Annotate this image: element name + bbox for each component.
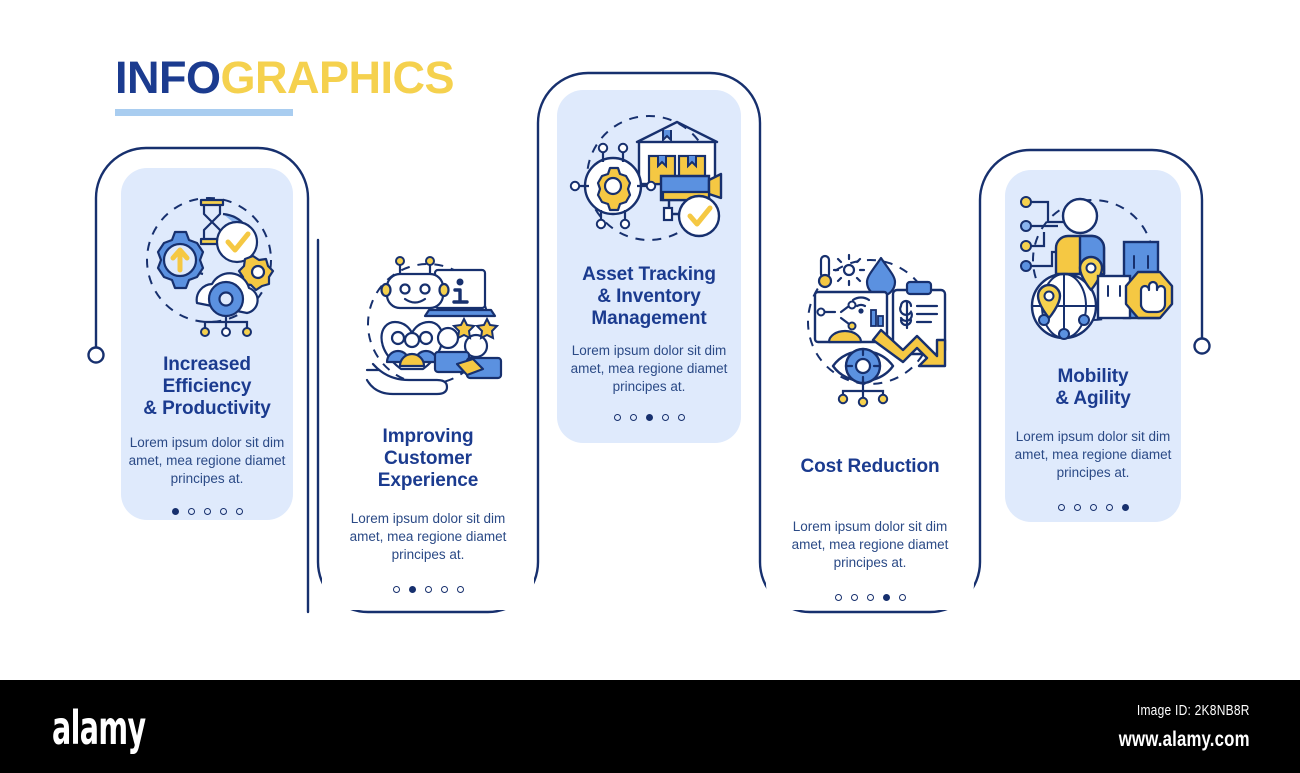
step-dot[interactable]	[236, 508, 243, 515]
step-dot[interactable]	[457, 586, 464, 593]
card3-body: Lorem ipsum dolor sit dim amet, mea regi…	[565, 342, 733, 396]
end-node-circle	[1195, 339, 1210, 354]
card2-body: Lorem ipsum dolor sit dim amet, mea regi…	[342, 510, 514, 564]
step-dot[interactable]	[1106, 504, 1113, 511]
card3-title-line2: & Inventory	[582, 286, 716, 308]
step-dot[interactable]	[425, 586, 432, 593]
card-increased-efficiency[interactable]: Increased Efficiency & Productivity Lore…	[121, 168, 293, 520]
alamy-logo: alamy	[52, 701, 145, 755]
step-dot[interactable]	[172, 508, 179, 515]
footer-meta: Image ID: 2K8NB8R www.alamy.com	[1086, 702, 1250, 752]
step-dot[interactable]	[1058, 504, 1065, 511]
card2-title-line3: Experience	[378, 470, 478, 492]
card4-body: Lorem ipsum dolor sit dim amet, mea regi…	[784, 518, 956, 572]
gear-arrow-cloud-icon	[121, 182, 293, 342]
step-dot[interactable]	[204, 508, 211, 515]
image-id-label: Image ID: 2K8NB8R	[1119, 702, 1250, 719]
step-dot[interactable]	[393, 586, 400, 593]
card5-step-dots[interactable]	[1058, 504, 1129, 511]
card3-title-line3: Management	[582, 308, 716, 330]
card5-body: Lorem ipsum dolor sit dim amet, mea regi…	[1010, 428, 1176, 482]
card4-title: Cost Reduction	[801, 456, 940, 478]
step-dot[interactable]	[883, 594, 890, 601]
watermark-footer: alamy Image ID: 2K8NB8R www.alamy.com	[0, 680, 1300, 773]
card4-title-line1: Cost Reduction	[801, 456, 940, 478]
card1-body: Lorem ipsum dolor sit dim amet, mea regi…	[127, 434, 287, 488]
title-underline-rule	[115, 109, 293, 116]
card1-title: Increased Efficiency & Productivity	[143, 354, 270, 420]
card1-title-line3: & Productivity	[143, 398, 270, 420]
step-dot[interactable]	[646, 414, 653, 421]
step-dot[interactable]	[441, 586, 448, 593]
card5-title: Mobility & Agility	[1055, 366, 1130, 410]
card-improving-customer-experience[interactable]: Improving Customer Experience Lorem ipsu…	[322, 248, 534, 610]
step-dot[interactable]	[662, 414, 669, 421]
chatbot-heart-rating-icon	[322, 252, 534, 412]
step-dot[interactable]	[1090, 504, 1097, 511]
step-dot[interactable]	[220, 508, 227, 515]
card2-step-dots[interactable]	[393, 586, 464, 593]
step-dot[interactable]	[188, 508, 195, 515]
card2-title-line1: Improving	[378, 426, 478, 448]
alamy-url: www.alamy.com	[1119, 728, 1250, 752]
globe-city-mobility-icon	[1005, 184, 1181, 344]
card1-step-dots[interactable]	[172, 508, 243, 515]
card3-title: Asset Tracking & Inventory Management	[582, 264, 716, 330]
step-dot[interactable]	[614, 414, 621, 421]
step-dot[interactable]	[899, 594, 906, 601]
page-title: INFOGRAPHICS	[115, 55, 454, 100]
card-mobility-agility[interactable]: Mobility & Agility Lorem ipsum dolor sit…	[1005, 170, 1181, 522]
title-graphics: GRAPHICS	[221, 52, 455, 103]
step-dot[interactable]	[409, 586, 416, 593]
card-asset-tracking[interactable]: Asset Tracking & Inventory Management Lo…	[557, 90, 741, 443]
step-dot[interactable]	[851, 594, 858, 601]
warehouse-gear-scanner-icon	[557, 104, 741, 256]
card2-title-line2: Customer	[378, 448, 478, 470]
card5-title-line2: & Agility	[1055, 388, 1130, 410]
card5-title-line1: Mobility	[1055, 366, 1130, 388]
step-dot[interactable]	[1122, 504, 1129, 511]
step-dot[interactable]	[678, 414, 685, 421]
card3-title-line1: Asset Tracking	[582, 264, 716, 286]
sensor-chart-eye-icon	[766, 248, 974, 408]
card-cost-reduction[interactable]: Cost Reduction Lorem ipsum dolor sit dim…	[766, 248, 974, 610]
card3-step-dots[interactable]	[614, 414, 685, 421]
card2-title: Improving Customer Experience	[378, 426, 478, 492]
page-header: INFOGRAPHICS	[115, 55, 454, 116]
infographic-canvas: INFOGRAPHICS	[0, 0, 1300, 773]
start-node-circle	[89, 348, 104, 363]
step-dot[interactable]	[1074, 504, 1081, 511]
step-dot[interactable]	[835, 594, 842, 601]
card1-title-line2: Efficiency	[143, 376, 270, 398]
step-dot[interactable]	[630, 414, 637, 421]
step-dot[interactable]	[867, 594, 874, 601]
card4-step-dots[interactable]	[835, 594, 906, 601]
title-info: INFO	[115, 52, 221, 103]
card1-title-line1: Increased	[143, 354, 270, 376]
